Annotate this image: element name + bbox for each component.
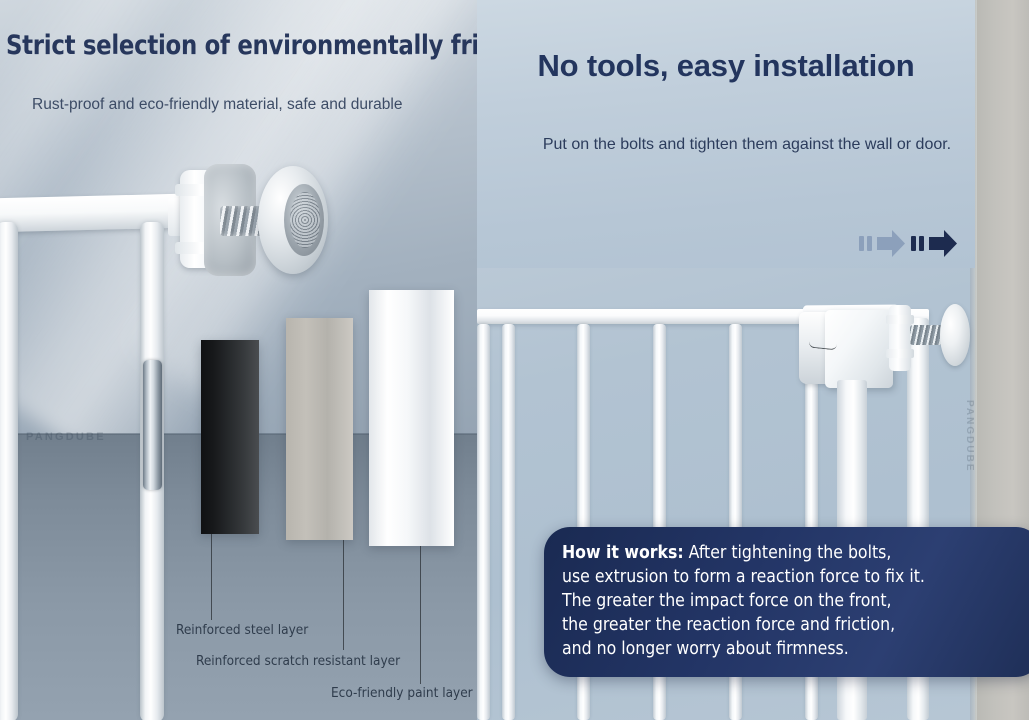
motion-arrow-faded [859,230,905,257]
scratch-resistant-swatch [286,318,353,540]
gate-bar [502,324,515,720]
leader-line-paint [420,546,421,684]
wall-pad-grip-rings [290,192,320,248]
knurled-thumb-nut-icon [889,305,911,371]
callout-line-1: use extrusion to form a reaction force t… [562,565,1024,589]
product-infographic: PANGDUBE Strict selection of environment… [0,0,1029,720]
left-panel-title: Strict selection of environmentally frie… [6,30,448,61]
callout-line-0: After tightening the bolts, [684,543,892,563]
leader-line-steel [211,534,212,620]
how-it-works-callout: How it works: After tightening the bolts… [544,527,1029,677]
wall-pad-cup-icon [940,304,970,366]
watermark-right: PANGDUBE [964,400,975,472]
leader-line-scratch [343,540,344,650]
callout-lead-label: How it works: [562,543,684,563]
layer-label-scratch: Reinforced scratch resistant layer [196,653,400,669]
callout-line-2: The greater the impact force on the fron… [562,589,1024,613]
layer-label-paint: Eco-friendly paint layer [331,685,473,701]
bolt-assembly-illustration [168,162,328,284]
watermark-left: PANGDUBE [26,431,106,443]
arrow-pair-icon [859,224,969,264]
callout-line-4: and no longer worry about firmness. [562,637,1024,661]
reinforced-steel-swatch [201,340,259,534]
right-panel-title: No tools, easy installation [477,48,975,84]
callout-line-3: the greater the reaction force and frict… [562,613,1024,637]
motion-arrows-group [859,224,969,264]
mount-block-housing [825,310,893,388]
gate-bar-left [0,222,18,720]
exposed-steel-core [143,360,162,490]
left-panel-subtitle: Rust-proof and eco-friendly material, sa… [32,96,472,114]
motion-arrow-solid [911,230,957,257]
eco-paint-swatch [369,290,454,546]
gate-bar [477,324,490,720]
left-panel-materials: PANGDUBE Strict selection of environment… [0,0,477,720]
right-panel-subtitle: Put on the bolts and tighten them agains… [477,136,1017,154]
layer-label-steel: Reinforced steel layer [176,622,308,638]
